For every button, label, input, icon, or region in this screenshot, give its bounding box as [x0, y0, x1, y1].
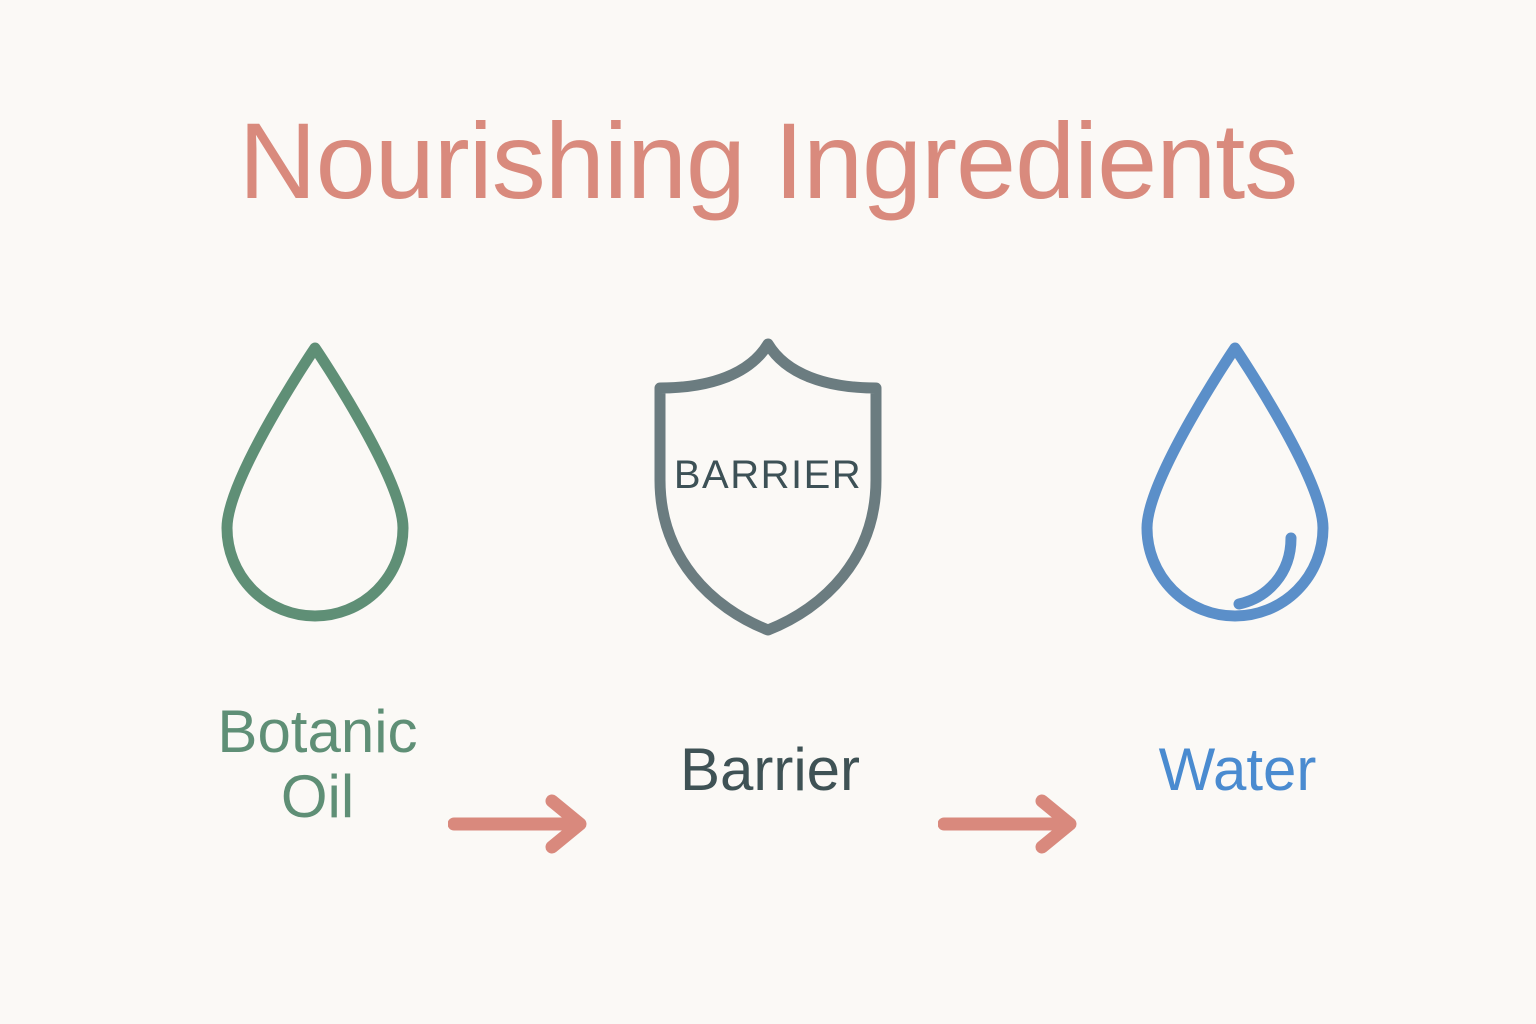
ingredient-flow: BARRIER: [0, 330, 1536, 660]
infographic-canvas: Nourishing Ingredients BARRIER: [0, 0, 1536, 1024]
stage-barrier: BARRIER: [638, 330, 898, 640]
label-botanic-oil: Botanic Oil: [175, 700, 460, 830]
arrow-right-icon-1: [448, 793, 598, 855]
label-water: Water: [1095, 738, 1380, 803]
water-droplet-icon: [1105, 330, 1365, 640]
stage-water: [1105, 330, 1365, 640]
shield-icon: BARRIER: [638, 330, 898, 640]
shield-inner-label: BARRIER: [674, 453, 862, 497]
oil-droplet-icon: [185, 330, 445, 640]
water-highlight-arc: [1239, 538, 1291, 604]
page-title: Nourishing Ingredients: [0, 104, 1536, 217]
arrow-right-icon-2: [938, 793, 1088, 855]
stage-botanic-oil: [185, 330, 445, 640]
label-barrier: Barrier: [630, 738, 910, 803]
